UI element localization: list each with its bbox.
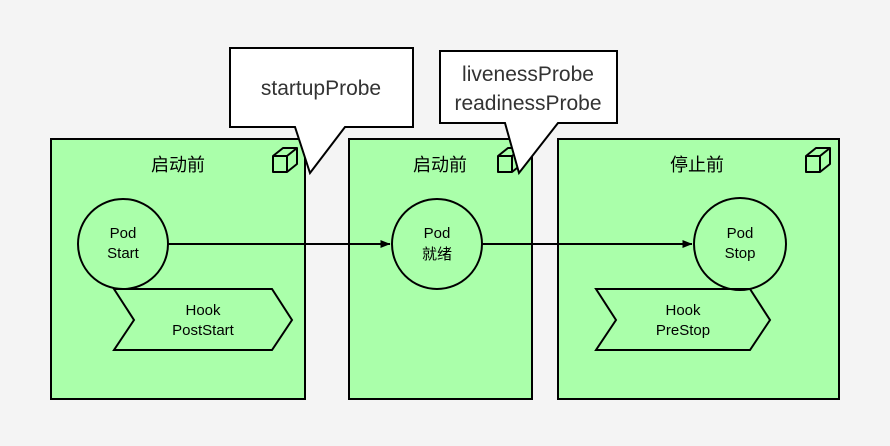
stage-1-hook-line-1: Hook <box>185 302 221 319</box>
stage-2-node-line-2: 就绪 <box>422 246 452 263</box>
stage-1-hook-line-2: PostStart <box>172 322 235 339</box>
stage-1-node-line-2: Start <box>107 245 140 262</box>
stage-1-node-line-1: Pod <box>110 225 137 242</box>
stage-2-title: 启动前 <box>413 155 467 175</box>
stage-3-hook-line-2: PreStop <box>656 322 710 339</box>
stage-1-title: 启动前 <box>151 155 205 175</box>
stage-2-node-line-1: Pod <box>424 225 451 242</box>
diagram-canvas: 启动前 Pod Start Hook PostStart 启动前 Po <box>0 0 890 446</box>
stage-1-container[interactable]: 启动前 Pod Start Hook PostStart <box>51 139 305 399</box>
stage-2-panel[interactable] <box>349 139 532 399</box>
stage-1-panel[interactable] <box>51 139 305 399</box>
liveness-probe-callout-label: livenessProbe <box>462 63 594 86</box>
startup-probe-callout-label: startupProbe <box>261 77 381 100</box>
stage-2-container[interactable]: 启动前 Pod 就绪 <box>349 139 532 399</box>
readiness-probe-callout-label: readinessProbe <box>454 92 601 115</box>
stage-3-title: 停止前 <box>670 155 724 175</box>
pod-lifecycle-diagram: 启动前 Pod Start Hook PostStart 启动前 Po <box>0 0 890 446</box>
stage-3-node-line-1: Pod <box>727 225 754 242</box>
stage-3-node-line-2: Stop <box>725 245 756 262</box>
stage-3-hook-line-1: Hook <box>665 302 701 319</box>
stage-3-panel[interactable] <box>558 139 839 399</box>
stage-3-container[interactable]: 停止前 Pod Stop Hook PreStop <box>558 139 839 399</box>
